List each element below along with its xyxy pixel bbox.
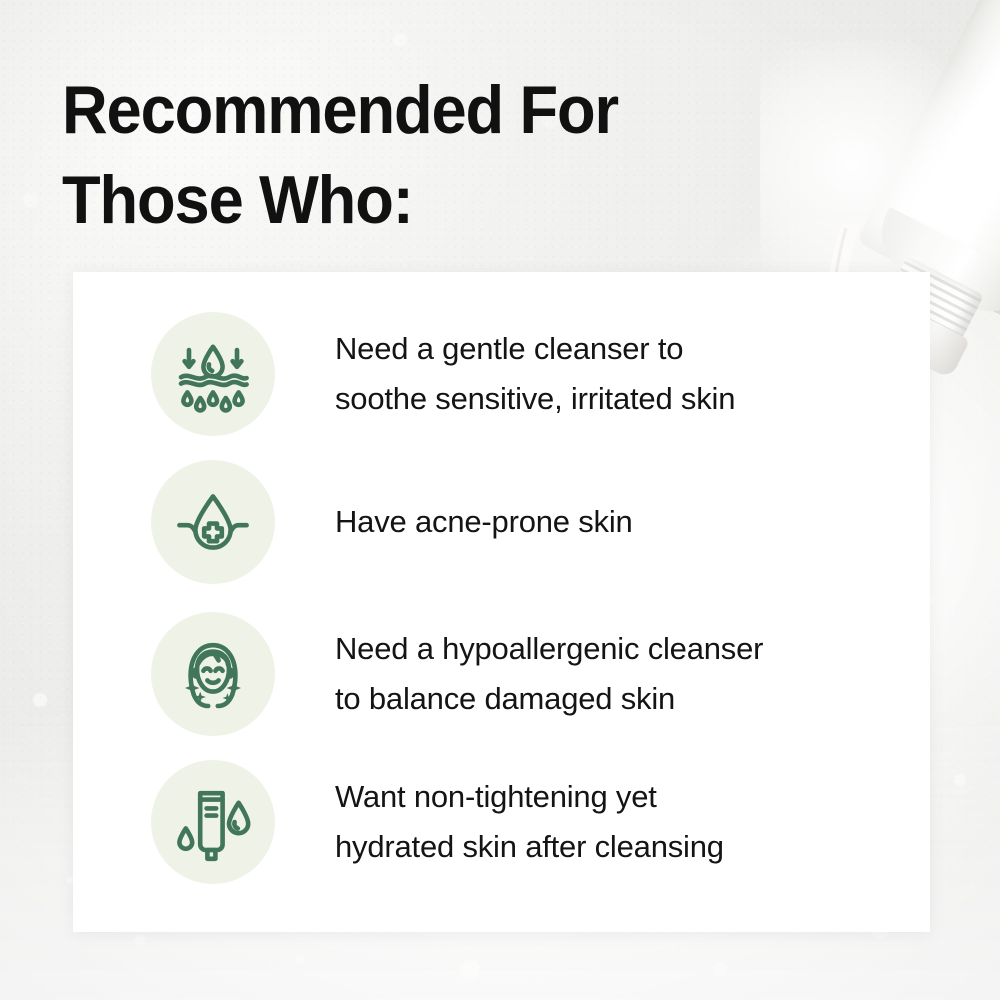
skin-hydration-absorption-icon [151, 312, 275, 436]
product-benefits-graphic: Recommended For Those Who: Centella Clea… [0, 0, 1000, 1000]
benefit-row: Need a gentle cleanser to soothe sensiti… [151, 312, 900, 436]
benefit-text: Need a gentle cleanser to soothe sensiti… [335, 324, 735, 424]
benefit-row: Have acne-prone skin [151, 460, 900, 584]
benefit-row: Need a hypoallergenic cleanser to balanc… [151, 612, 900, 736]
cosmetic-tube-droplets-icon [151, 760, 275, 884]
droplet-medical-cross-icon [151, 460, 275, 584]
glowing-face-sparkles-icon [151, 612, 275, 736]
benefit-text: Need a hypoallergenic cleanser to balanc… [335, 624, 763, 724]
benefit-row: Want non-tightening yet hydrated skin af… [151, 760, 900, 884]
benefit-text: Have acne-prone skin [335, 497, 633, 547]
benefit-text: Want non-tightening yet hydrated skin af… [335, 772, 724, 872]
benefits-list: Need a gentle cleanser to soothe sensiti… [73, 272, 930, 932]
benefits-card: Need a gentle cleanser to soothe sensiti… [73, 272, 930, 932]
page-title: Recommended For Those Who: [62, 66, 657, 246]
